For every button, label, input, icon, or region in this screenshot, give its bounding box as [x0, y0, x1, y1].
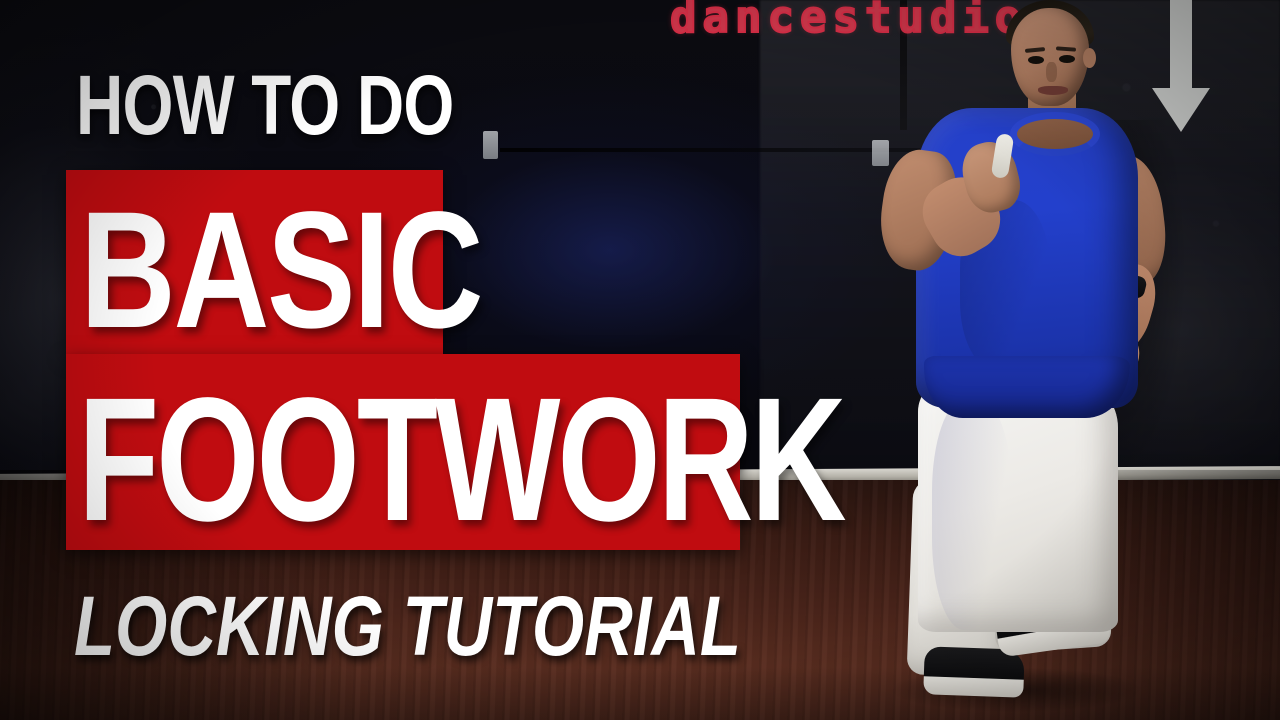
title-overlay: HOW TO DO BASIC FOOTWORK LOCKING TUTORIA… — [0, 0, 1280, 720]
thumbnail-subtitle: LOCKING TUTORIAL — [74, 578, 741, 675]
thumbnail-title-line2: FOOTWORK — [78, 372, 844, 548]
thumbnail-title-line1: BASIC — [80, 188, 481, 354]
thumbnail-kicker: HOW TO DO — [76, 66, 454, 146]
video-thumbnail: dancestudio — [0, 0, 1280, 720]
